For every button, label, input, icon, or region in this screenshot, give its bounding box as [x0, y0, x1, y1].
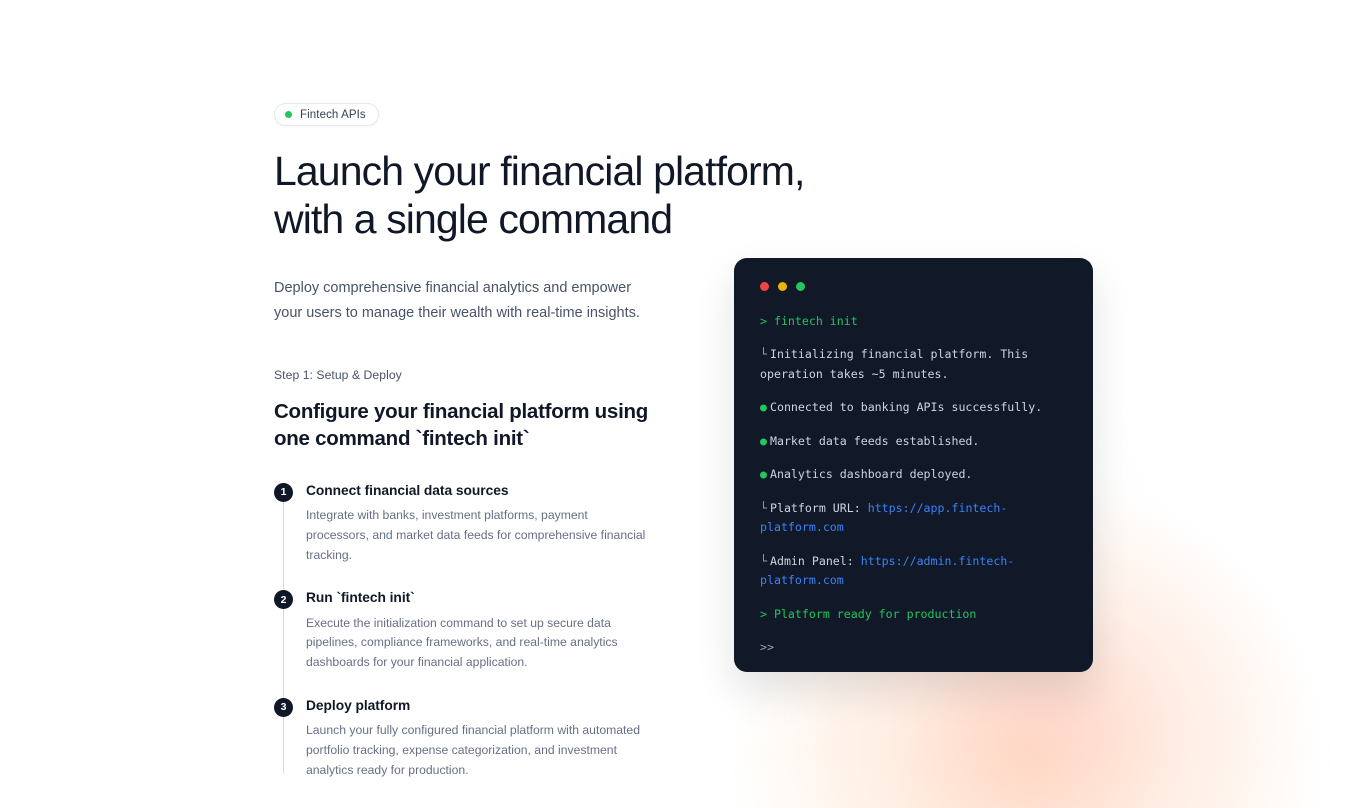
hero-title-line-1: Launch your financial platform, — [274, 148, 804, 194]
step-title: Run `fintech init` — [306, 589, 654, 606]
terminal-status-line: ●Market data feeds established. — [760, 432, 1067, 451]
terminal-init-message: Initializing financial platform. This op… — [760, 347, 1028, 380]
terminal-ready-line: > Platform ready for production — [760, 605, 1067, 624]
terminal-platform-url-line: └Platform URL: https://app.fintech-platf… — [760, 499, 1067, 538]
admin-panel-label: Admin Panel: — [770, 554, 854, 568]
list-item: 1 Connect financial data sources Integra… — [274, 482, 694, 566]
terminal-cursor: >> — [760, 640, 774, 654]
prompt-symbol: > — [760, 607, 767, 621]
step-description: Integrate with banks, investment platfor… — [306, 506, 654, 565]
terminal-status-2: Market data feeds established. — [770, 434, 979, 448]
step-number-badge: 1 — [274, 483, 293, 502]
terminal-ready-message: Platform ready for production — [774, 607, 976, 621]
output-branch-icon: └ — [760, 554, 767, 568]
terminal-window-controls — [760, 282, 1067, 291]
category-badge[interactable]: Fintech APIs — [274, 103, 379, 126]
terminal-status-line: ●Analytics dashboard deployed. — [760, 465, 1067, 484]
terminal-status-1: Connected to banking APIs successfully. — [770, 400, 1042, 414]
hero-title-line-2: with a single command — [274, 196, 672, 242]
terminal-status-line: ●Connected to banking APIs successfully. — [760, 398, 1067, 417]
hero-subtitle-line-1: Deploy comprehensive financial analytics… — [274, 280, 631, 296]
terminal-output: > fintech init └Initializing financial p… — [760, 312, 1067, 658]
terminal-panel[interactable]: > fintech init └Initializing financial p… — [734, 258, 1093, 672]
prompt-symbol: > — [760, 314, 767, 328]
step-number-badge: 2 — [274, 590, 293, 609]
step-content: Run `fintech init` Execute the initializ… — [306, 589, 654, 673]
maximize-dot-icon[interactable] — [796, 282, 805, 291]
hero-subtitle-line-2: your users to manage their wealth with r… — [274, 305, 640, 321]
step-number-badge: 3 — [274, 698, 293, 717]
success-bullet-icon: ● — [760, 467, 767, 481]
output-branch-icon: └ — [760, 501, 767, 515]
minimize-dot-icon[interactable] — [778, 282, 787, 291]
step-content: Connect financial data sources Integrate… — [306, 482, 654, 566]
step-title: Connect financial data sources — [306, 482, 654, 499]
terminal-cursor-line[interactable]: >> — [760, 638, 1067, 657]
success-bullet-icon: ● — [760, 400, 767, 414]
page-root: Fintech APIs Launch your financial platf… — [0, 0, 1351, 808]
step-content: Deploy platform Launch your fully config… — [306, 697, 654, 781]
terminal-admin-panel-line: └Admin Panel: https://admin.fintech-plat… — [760, 552, 1067, 591]
output-branch-icon: └ — [760, 347, 767, 361]
terminal-status-3: Analytics dashboard deployed. — [770, 467, 972, 481]
section-eyebrow: Step 1: Setup & Deploy — [274, 368, 694, 382]
status-dot-icon — [285, 111, 292, 118]
terminal-command: fintech init — [774, 314, 858, 328]
terminal-command-line: > fintech init — [760, 312, 1067, 331]
platform-url-label: Platform URL: — [770, 501, 861, 515]
step-title: Deploy platform — [306, 697, 654, 714]
success-bullet-icon: ● — [760, 434, 767, 448]
hero-left-column: Fintech APIs Launch your financial platf… — [274, 103, 694, 781]
hero-subtitle: Deploy comprehensive financial analytics… — [274, 276, 656, 326]
steps-list: 1 Connect financial data sources Integra… — [274, 482, 694, 781]
category-badge-label: Fintech APIs — [300, 109, 366, 121]
step-description: Launch your fully configured financial p… — [306, 721, 654, 780]
list-item: 2 Run `fintech init` Execute the initial… — [274, 589, 694, 673]
terminal-init-line: └Initializing financial platform. This o… — [760, 345, 1067, 384]
close-dot-icon[interactable] — [760, 282, 769, 291]
list-item: 3 Deploy platform Launch your fully conf… — [274, 697, 694, 781]
step-description: Execute the initialization command to se… — [306, 614, 654, 673]
page-title: Launch your financial platform, with a s… — [274, 148, 894, 244]
section-title: Configure your financial platform using … — [274, 398, 674, 452]
